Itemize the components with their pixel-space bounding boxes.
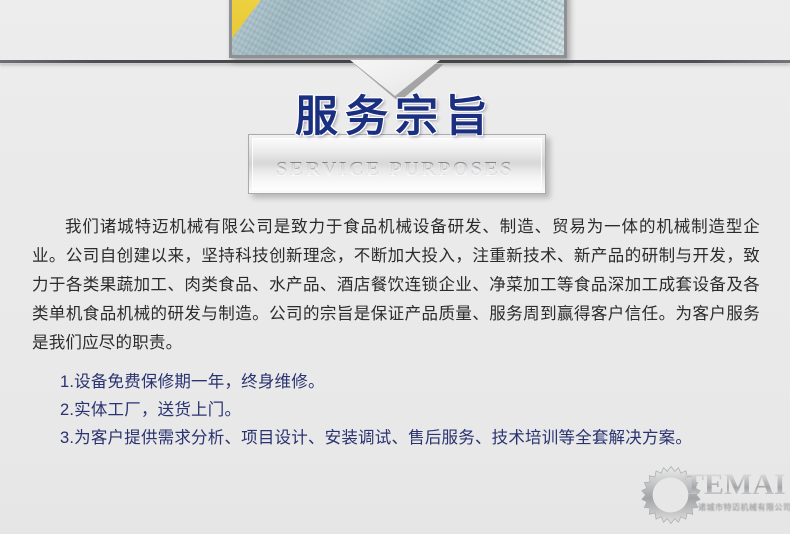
banner-yellow-stripe-secondary (229, 3, 230, 58)
list-item: 1.设备免费保修期一年，终身维修。 (60, 368, 760, 396)
description-paragraph: 我们诸城特迈机械有限公司是致力于食品机械设备研发、制造、贸易为一体的机械制造型企… (32, 213, 760, 358)
page-subtitle: SERVICE PURPOSES (0, 159, 790, 179)
watermark-brand: TEMAI (684, 470, 786, 500)
banner-frame (229, 0, 567, 58)
banner-photo (232, 0, 564, 55)
company-description: 我们诸城特迈机械有限公司是致力于食品机械设备研发、制造、贸易为一体的机械制造型企… (32, 213, 760, 358)
service-commitment-list: 1.设备免费保修期一年，终身维修。 2.实体工厂，送货上门。 3.为客户提供需求… (60, 368, 760, 452)
list-item: 2.实体工厂，送货上门。 (60, 396, 760, 424)
list-item: 3.为客户提供需求分析、项目设计、安装调试、售后服务、技术培训等全套解决方案。 (60, 424, 760, 452)
section-heading: 服务宗旨 SERVICE PURPOSES (0, 96, 790, 208)
watermark-subtitle: 诸城市特迈机械有限公司 (698, 502, 790, 513)
banner-yellow-stripe (229, 0, 261, 58)
banner-image (229, 0, 567, 58)
brand-watermark: TEMAI 诸城市特迈机械有限公司 (640, 462, 782, 528)
page-title: 服务宗旨 (0, 96, 790, 139)
